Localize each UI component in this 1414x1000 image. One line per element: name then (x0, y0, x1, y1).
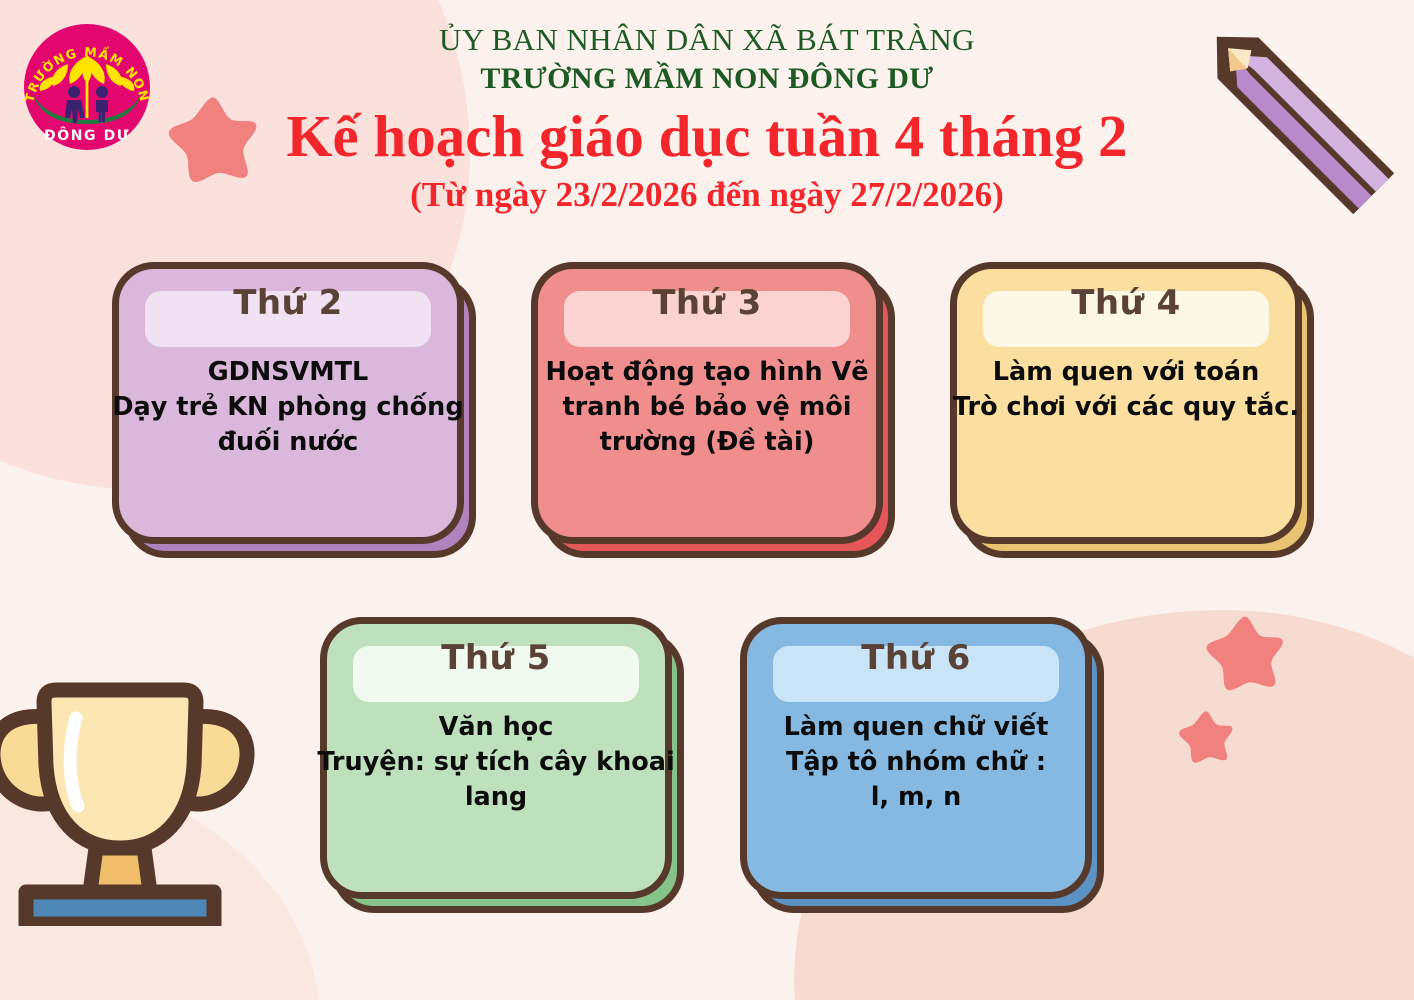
card-day-label: Thứ 4 (983, 283, 1269, 323)
card-header-pill: Thứ 6 (773, 646, 1059, 702)
card-body: Thứ 6 Làm quen chữ viết Tập tô nhóm chữ … (740, 617, 1092, 899)
card-body: Thứ 4 Làm quen với toán Trò chơi với các… (950, 262, 1302, 544)
day-card-thu-2[interactable]: Thứ 2 GDNSVMTL Dạy trẻ KN phòng chống đu… (112, 262, 464, 544)
card-day-label: Thứ 5 (353, 638, 639, 678)
card-activity-text: Văn học Truyện: sự tích cây khoai lang (311, 710, 681, 816)
org-name-line1: ỦY BAN NHÂN DÂN XÃ BÁT TRÀNG (0, 22, 1414, 59)
card-activity-text: Làm quen chữ viết Tập tô nhóm chữ : l, m… (731, 710, 1101, 816)
card-day-label: Thứ 3 (564, 283, 850, 323)
card-header-pill: Thứ 4 (983, 291, 1269, 347)
card-header-pill: Thứ 2 (145, 291, 431, 347)
star-large-right-icon (1205, 612, 1285, 692)
trophy-icon (0, 606, 264, 926)
background-blob-bottom-left (0, 770, 320, 1000)
card-day-label: Thứ 2 (145, 283, 431, 323)
day-card-thu-6[interactable]: Thứ 6 Làm quen chữ viết Tập tô nhóm chữ … (740, 617, 1092, 899)
card-activity-text: Làm quen với toán Trò chơi với các quy t… (941, 355, 1311, 425)
poster-root: TRƯỜNG MẦM NON ĐÔNG DƯ (0, 0, 1414, 1000)
day-card-thu-5[interactable]: Thứ 5 Văn học Truyện: sự tích cây khoai … (320, 617, 672, 899)
card-day-label: Thứ 6 (773, 638, 1059, 678)
page-subtitle: (Từ ngày 23/2/2026 đến ngày 27/2/2026) (0, 173, 1414, 217)
card-header-pill: Thứ 3 (564, 291, 850, 347)
day-card-thu-4[interactable]: Thứ 4 Làm quen với toán Trò chơi với các… (950, 262, 1302, 544)
card-body: Thứ 2 GDNSVMTL Dạy trẻ KN phòng chống đu… (112, 262, 464, 544)
card-header-pill: Thứ 5 (353, 646, 639, 702)
card-body: Thứ 3 Hoạt động tạo hình Vẽ tranh bé bảo… (531, 262, 883, 544)
card-body: Thứ 5 Văn học Truyện: sự tích cây khoai … (320, 617, 672, 899)
day-card-thu-3[interactable]: Thứ 3 Hoạt động tạo hình Vẽ tranh bé bảo… (531, 262, 883, 544)
header-block: ỦY BAN NHÂN DÂN XÃ BÁT TRÀNG TRƯỜNG MẦM … (0, 22, 1414, 217)
card-activity-text: GDNSVMTL Dạy trẻ KN phòng chống đuối nướ… (103, 355, 473, 461)
org-name-line2: TRƯỜNG MẦM NON ĐÔNG DƯ (0, 59, 1414, 98)
star-small-right-icon (1178, 708, 1234, 764)
card-activity-text: Hoạt động tạo hình Vẽ tranh bé bảo vệ mô… (522, 355, 892, 461)
page-title: Kế hoạch giáo dục tuần 4 tháng 2 (0, 102, 1414, 172)
